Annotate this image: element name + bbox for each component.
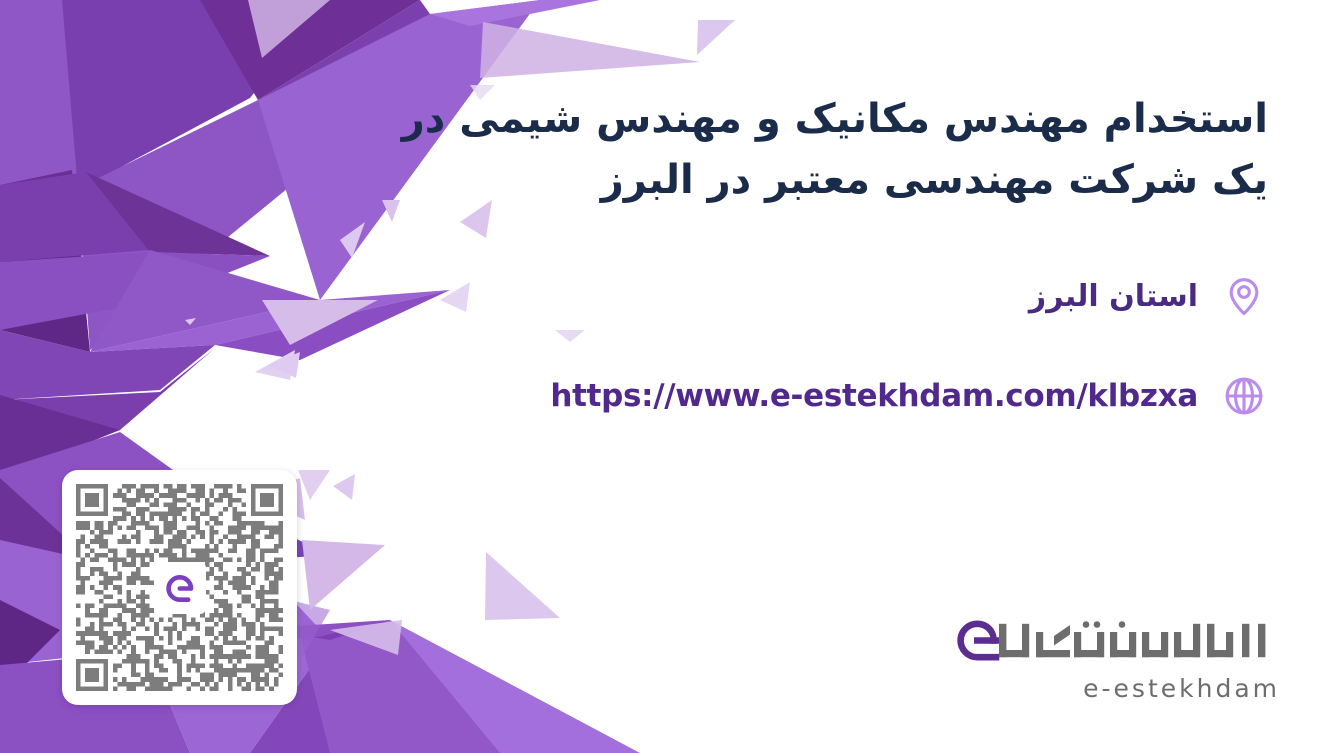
map-pin-icon — [1220, 272, 1268, 320]
brand-subtitle: e-estekhdam — [940, 674, 1280, 703]
brand-e-mark — [961, 624, 996, 657]
brand-wordmark-icon — [950, 612, 1280, 668]
page-title: استخدام مهندس مکانیک و مهندس شیمی در یک … — [338, 89, 1268, 211]
brand-logo: e-estekhdam — [940, 612, 1280, 722]
e-logo-icon — [154, 562, 206, 614]
location-row: استان البرز — [1029, 272, 1268, 320]
url-row[interactable]: https://www.e-estekhdam.com/klbzxa — [550, 372, 1268, 420]
location-text: استان البرز — [1029, 279, 1198, 314]
qr-code[interactable] — [62, 470, 297, 705]
brand-wordmark-glyphs — [999, 621, 1265, 657]
job-url[interactable]: https://www.e-estekhdam.com/klbzxa — [550, 378, 1198, 414]
job-share-card: استخدام مهندس مکانیک و مهندس شیمی در یک … — [0, 0, 1340, 753]
qr-inner — [76, 484, 283, 691]
globe-icon — [1220, 372, 1268, 420]
